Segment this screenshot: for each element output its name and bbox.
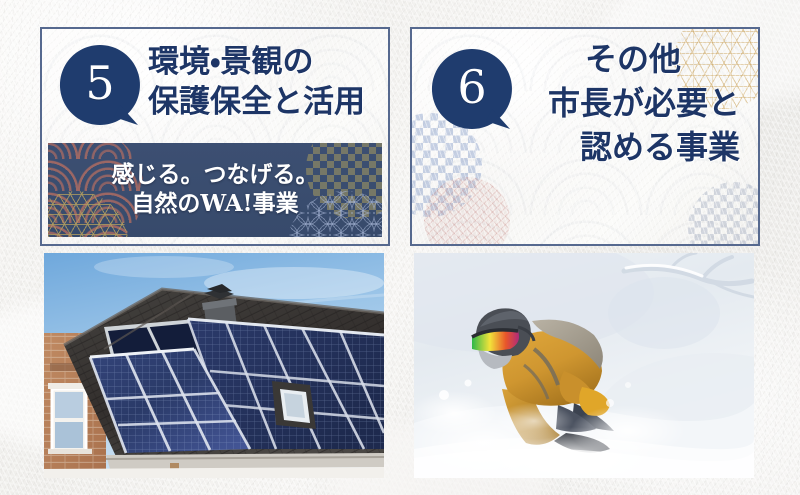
headline-line: 市長が必要と bbox=[526, 81, 740, 125]
badge-number-label: 5 bbox=[58, 43, 142, 123]
headline-line: 保護保全と活用 bbox=[148, 82, 365, 122]
card-6-headline: その他 市長が必要と 認める事業 bbox=[526, 37, 740, 169]
card-5-headline: 環境・景観の 保護保全と活用 bbox=[148, 42, 365, 123]
category-card-5[interactable]: 5 環境・景観の 保護保全と活用 感じる。つなげる。 自然のWA!事業 bbox=[40, 27, 390, 246]
card-5-banner: 感じる。つなげる。 自然のWA!事業 bbox=[48, 143, 382, 237]
solar-photo-illustration bbox=[44, 253, 384, 478]
snowboarder-powder-photo[interactable] bbox=[414, 253, 754, 478]
page-root: 5 環境・景観の 保護保全と活用 感じる。つなげる。 自然のWA!事業 bbox=[0, 0, 800, 495]
category-card-6[interactable]: 6 その他 市長が必要と 認める事業 bbox=[410, 27, 760, 246]
headline-line: その他 bbox=[526, 37, 740, 81]
badge-number-label: 6 bbox=[430, 47, 514, 127]
snowboard-photo-illustration bbox=[414, 253, 754, 478]
banner-line: 感じる。つなげる。 bbox=[112, 161, 319, 190]
headline-line: 環境・景観の bbox=[148, 42, 365, 82]
banner-line: 自然のWA!事業 bbox=[131, 190, 298, 219]
badge-number-6: 6 bbox=[430, 47, 514, 131]
badge-number-5: 5 bbox=[58, 43, 142, 127]
solar-panel-roof-photo[interactable] bbox=[44, 253, 384, 478]
card-6-header: 6 その他 市長が必要と 認める事業 bbox=[424, 35, 750, 169]
card-5-banner-text: 感じる。つなげる。 自然のWA!事業 bbox=[48, 143, 382, 237]
headline-line: 認める事業 bbox=[526, 125, 740, 169]
card-5-header: 5 環境・景観の 保護保全と活用 bbox=[54, 37, 380, 127]
